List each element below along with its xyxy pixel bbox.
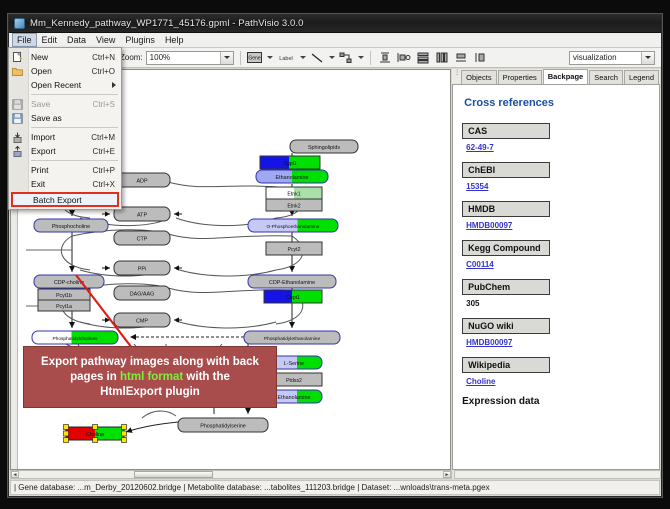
pathway-node-label: Phosphatidylserine (200, 424, 246, 430)
backpage-content: Cross references CAS62-49-7ChEBI15354HMD… (452, 84, 660, 470)
pathway-gene-pcyt2[interactable]: Pcyt2 (266, 242, 322, 255)
pathway-gene-label: Pcyt1b (56, 293, 72, 299)
datanode-dropdown-icon[interactable] (267, 56, 273, 59)
menu-item-print-label: Print (31, 165, 93, 175)
menu-item-save-label: Save (31, 99, 93, 109)
callout-line-1: Export pathway images along with back (41, 355, 259, 370)
save-disk-icon (12, 99, 23, 110)
pathway-node-ctp[interactable]: CTP (114, 231, 170, 245)
menu-item-batch-export[interactable]: Batch Export (11, 192, 119, 207)
export-icon (12, 146, 23, 157)
pathway-node-adp[interactable]: ADP (114, 173, 170, 187)
scroll-thumb[interactable] (134, 471, 213, 478)
xref-value-kegg-compound[interactable]: C00114 (466, 260, 650, 269)
status-bar: | Gene database: ...m_Derby_20120602.bri… (10, 480, 660, 495)
window-title: Mm_Kennedy_pathway_WP1771_45176.gpml - P… (30, 18, 304, 29)
screenshot-root: Mm_Kennedy_pathway_WP1771_45176.gpml - P… (0, 0, 670, 509)
menu-separator (31, 160, 118, 161)
menu-item-print[interactable]: PrintCtrl+P (9, 163, 121, 177)
selection-handle[interactable] (64, 425, 69, 430)
menu-item-exit[interactable]: ExitCtrl+X (9, 177, 121, 191)
cross-reference-list: CAS62-49-7ChEBI15354HMDBHMDB00097Kegg Co… (462, 123, 650, 386)
pathway-node-label: CDP-Ethanolamine (269, 280, 315, 286)
xref-link[interactable]: HMDB00097 (466, 221, 512, 230)
pathway-node-label: CTP (137, 237, 148, 243)
horizontal-scroll-row: ◄ ► (9, 470, 661, 479)
pathway-node-label: Ethanolamine (276, 175, 309, 181)
pathway-gene-label: Ptdss2 (286, 378, 302, 384)
menu-item-open-recent[interactable]: Open Recent (9, 78, 121, 92)
svg-text:Label: Label (279, 56, 292, 62)
pathway-node-dag[interactable]: DAG/AAG (114, 286, 170, 300)
menu-separator (31, 94, 118, 95)
file-menu-items: NewCtrl+NOpenCtrl+OOpen RecentSaveCtrl+S… (9, 50, 121, 191)
pathway-gene-label: Etnk2 (287, 203, 300, 209)
tab-legend[interactable]: Legend (624, 70, 659, 84)
pathway-node-label: L-Serine (284, 361, 304, 367)
cross-references-title: Cross references (464, 97, 650, 109)
xref-header-cas: CAS (462, 123, 550, 139)
pathway-gene-label: Cept1 (286, 295, 300, 301)
pathway-node-label: Ethanolamine (278, 395, 311, 401)
menu-view[interactable]: View (91, 33, 120, 47)
menu-item-save-as[interactable]: Save as (9, 111, 121, 125)
menu-item-new-accelerator: Ctrl+N (92, 53, 121, 62)
pathway-gene-pcyt1b[interactable]: Pcyt1b (38, 289, 90, 300)
pathway-node-cdp-choline[interactable]: CDP-choline (34, 275, 104, 288)
callout-line-2-b: with the (183, 371, 230, 383)
pathway-node-label: ADP (136, 179, 147, 185)
zoom-value: 100% (150, 53, 220, 62)
chevron-down-icon[interactable] (220, 52, 233, 64)
menu-separator (31, 127, 118, 128)
menu-item-import-label: Import (31, 132, 91, 142)
stack-vertical-button[interactable] (415, 50, 431, 66)
xref-value-wikipedia[interactable]: Choline (466, 377, 650, 386)
callout-highlight: html format (120, 371, 183, 383)
pathway-node-ppi[interactable]: PPi (114, 261, 170, 275)
pathvisio-icon (14, 18, 25, 29)
menu-item-export[interactable]: ExportCtrl+E (9, 144, 121, 158)
selection-handle[interactable] (122, 438, 127, 443)
common-height-button[interactable] (472, 50, 488, 66)
xref-header-wikipedia: Wikipedia (462, 357, 550, 373)
xref-link[interactable]: HMDB00097 (466, 338, 512, 347)
menu-item-print-accelerator: Ctrl+P (93, 166, 121, 175)
open-folder-icon (12, 66, 23, 77)
menu-item-exit-label: Exit (31, 179, 93, 189)
menu-item-save-as-label: Save as (31, 113, 121, 123)
save-as-icon (12, 113, 23, 124)
title-bar: Mm_Kennedy_pathway_WP1771_45176.gpml - P… (9, 15, 661, 33)
pathway-gene-pcyt1a[interactable]: Pcyt1a (38, 300, 90, 311)
pathway-gene-etnk2[interactable]: Etnk2 (266, 199, 322, 211)
menu-item-export-accelerator: Ctrl+E (93, 147, 121, 156)
line-tool-button[interactable] (309, 50, 325, 66)
xref-value-cas[interactable]: 62-49-7 (466, 143, 650, 152)
scroll-left-arrow-icon[interactable]: ◄ (11, 471, 19, 478)
visualization-combobox[interactable]: visualization (569, 51, 655, 65)
menu-item-exit-accelerator: Ctrl+X (93, 180, 121, 189)
xref-link[interactable]: 62-49-7 (466, 143, 494, 152)
interaction-tool-button[interactable] (338, 50, 354, 66)
xref-header-kegg-compound: Kegg Compound (462, 240, 550, 256)
pathway-node-label: PPi (138, 267, 146, 273)
scroll-right-arrow-icon[interactable]: ► (443, 471, 451, 478)
menu-item-new-label: New (31, 52, 92, 62)
zoom-label: Zoom: (120, 53, 143, 62)
pathway-node-label: Sphingolipids (308, 145, 340, 151)
selection-handle[interactable] (93, 438, 98, 443)
pathway-gene-sgpl1[interactable]: Sgpl1 (260, 156, 320, 169)
svg-text:Gene: Gene (249, 56, 261, 62)
pathway-gene-label: Pcyt1a (56, 304, 72, 310)
interaction-dropdown-icon[interactable] (358, 56, 364, 59)
xref-header-nugo-wiki: NuGO wiki (462, 318, 550, 334)
new-document-icon (12, 52, 23, 63)
submenu-arrow-icon (112, 82, 116, 88)
pathway-node-ethanolamine-top[interactable]: Ethanolamine (256, 170, 328, 183)
visualization-value: visualization (573, 53, 641, 62)
datanode-tool-button[interactable]: Gene (247, 50, 263, 66)
zoom-combobox[interactable]: 100% (146, 51, 234, 65)
menu-item-save-accelerator: Ctrl+S (93, 100, 121, 109)
common-width-button[interactable] (453, 50, 469, 66)
label-tool-button[interactable]: Label (276, 50, 296, 66)
selection-handle[interactable] (64, 438, 69, 443)
menu-item-export-label: Export (31, 146, 93, 156)
canvas-horizontal-scrollbar[interactable]: ◄ ► (10, 470, 452, 479)
xref-link[interactable]: 15354 (466, 182, 488, 191)
pathway-node-o-phosphoethanolamine[interactable]: O-Phosphoethanolamine (248, 219, 338, 232)
menu-item-open[interactable]: OpenCtrl+O (9, 64, 121, 78)
xref-header-pubchem: PubChem (462, 279, 550, 295)
annotation-callout: Export pathway images along with back pa… (23, 346, 277, 408)
pathway-node-atp[interactable]: ATP (114, 207, 170, 221)
pathway-gene-cept1[interactable]: Cept1 (264, 290, 322, 303)
menu-item-save: SaveCtrl+S (9, 97, 121, 111)
xref-header-chebi: ChEBI (462, 162, 550, 178)
menu-item-open-accelerator: Ctrl+O (92, 67, 121, 76)
pathway-node-label: O-Phosphoethanolamine (266, 224, 319, 230)
tab-properties[interactable]: Properties (498, 70, 542, 84)
xref-link[interactable]: Choline (466, 377, 495, 386)
align-left-button[interactable] (396, 50, 412, 66)
pathway-gene-label: Sgpl1 (283, 161, 296, 167)
xref-value-chebi[interactable]: 15354 (466, 182, 650, 191)
menu-item-batch-export-label: Batch Export (33, 195, 117, 205)
xref-value-pubchem: 305 (466, 299, 650, 308)
pathway-gene-etnk1[interactable]: Etnk1 (266, 187, 322, 199)
line-dropdown-icon[interactable] (329, 56, 335, 59)
pathway-node-phosphatidylethanolamine[interactable]: Phosphatidylethanolamine (244, 331, 340, 344)
pathway-node-phosphocholine[interactable]: Phosphocholine (34, 219, 108, 232)
menu-item-new[interactable]: NewCtrl+N (9, 50, 121, 64)
menu-edit[interactable]: Edit (37, 33, 63, 47)
stack-horizontal-button[interactable] (434, 50, 450, 66)
xref-value-hmdb[interactable]: HMDB00097 (466, 221, 650, 230)
pathway-node-label: DAG/AAG (130, 292, 155, 298)
pathway-node-sphingolipids[interactable]: Sphingolipids (290, 140, 358, 153)
toolbar-separator (370, 51, 371, 65)
menu-item-open-label: Open (31, 66, 92, 76)
pathway-node-cmp[interactable]: CMP (114, 313, 170, 327)
menu-item-import-accelerator: Ctrl+M (91, 133, 121, 142)
menu-bar: File Edit Data View Plugins Help (9, 33, 661, 48)
selection-handle[interactable] (93, 425, 98, 430)
panel-grip-icon[interactable]: ⋮ (454, 70, 460, 76)
toolbar-separator (240, 51, 241, 65)
side-panel-tabs: ⋮ Objects Properties Backpage Search Leg… (452, 69, 660, 84)
menu-help[interactable]: Help (160, 33, 189, 47)
callout-line-3: HtmlExport plugin (100, 385, 200, 400)
pathway-node-cdp-ethanolamine[interactable]: CDP-Ethanolamine (248, 275, 336, 288)
pathway-node-label: ATP (137, 213, 147, 219)
label-dropdown-icon[interactable] (300, 56, 306, 59)
pathway-node-label: Phosphatidylethanolamine (264, 336, 321, 342)
menu-file[interactable]: File (12, 33, 37, 47)
callout-line-2: pages in html format with the (70, 370, 230, 385)
menu-item-import[interactable]: ImportCtrl+M (9, 130, 121, 144)
selection-handle[interactable] (122, 431, 127, 436)
scroll-row-spacer (454, 470, 661, 479)
menu-data[interactable]: Data (62, 33, 91, 47)
tab-objects[interactable]: Objects (461, 70, 496, 84)
xref-value-nugo-wiki[interactable]: HMDB00097 (466, 338, 650, 347)
menu-item-open-recent-label: Open Recent (31, 80, 121, 90)
file-menu-dropdown[interactable]: NewCtrl+NOpenCtrl+OOpen RecentSaveCtrl+S… (8, 47, 122, 210)
pathway-node-phosphatidylserine[interactable]: Phosphatidylserine (178, 418, 268, 432)
menu-plugins[interactable]: Plugins (120, 33, 160, 47)
pathway-node-phosphatidylcholines[interactable]: Phosphatidylcholines (32, 331, 118, 344)
align-top-button[interactable] (377, 50, 393, 66)
side-panel: ⋮ Objects Properties Backpage Search Leg… (452, 69, 660, 470)
xref-header-hmdb: HMDB (462, 201, 550, 217)
import-icon (12, 132, 23, 143)
chevron-down-icon[interactable] (641, 52, 654, 64)
pathway-node-label: CMP (136, 319, 148, 325)
selection-handle[interactable] (64, 431, 69, 436)
pathway-node-label: Phosphocholine (52, 224, 90, 230)
pathway-gene-label: Etnk1 (287, 191, 300, 197)
pathway-node-label: Phosphatidylcholines (52, 336, 98, 342)
tab-backpage[interactable]: Backpage (543, 69, 588, 84)
xref-link[interactable]: C00114 (466, 260, 494, 269)
pathway-gene-label: Pcyt2 (288, 247, 301, 253)
callout-line-2-a: pages in (70, 371, 120, 383)
tab-search[interactable]: Search (589, 70, 623, 84)
expression-data-title: Expression data (462, 396, 650, 407)
selection-handle[interactable] (122, 425, 127, 430)
